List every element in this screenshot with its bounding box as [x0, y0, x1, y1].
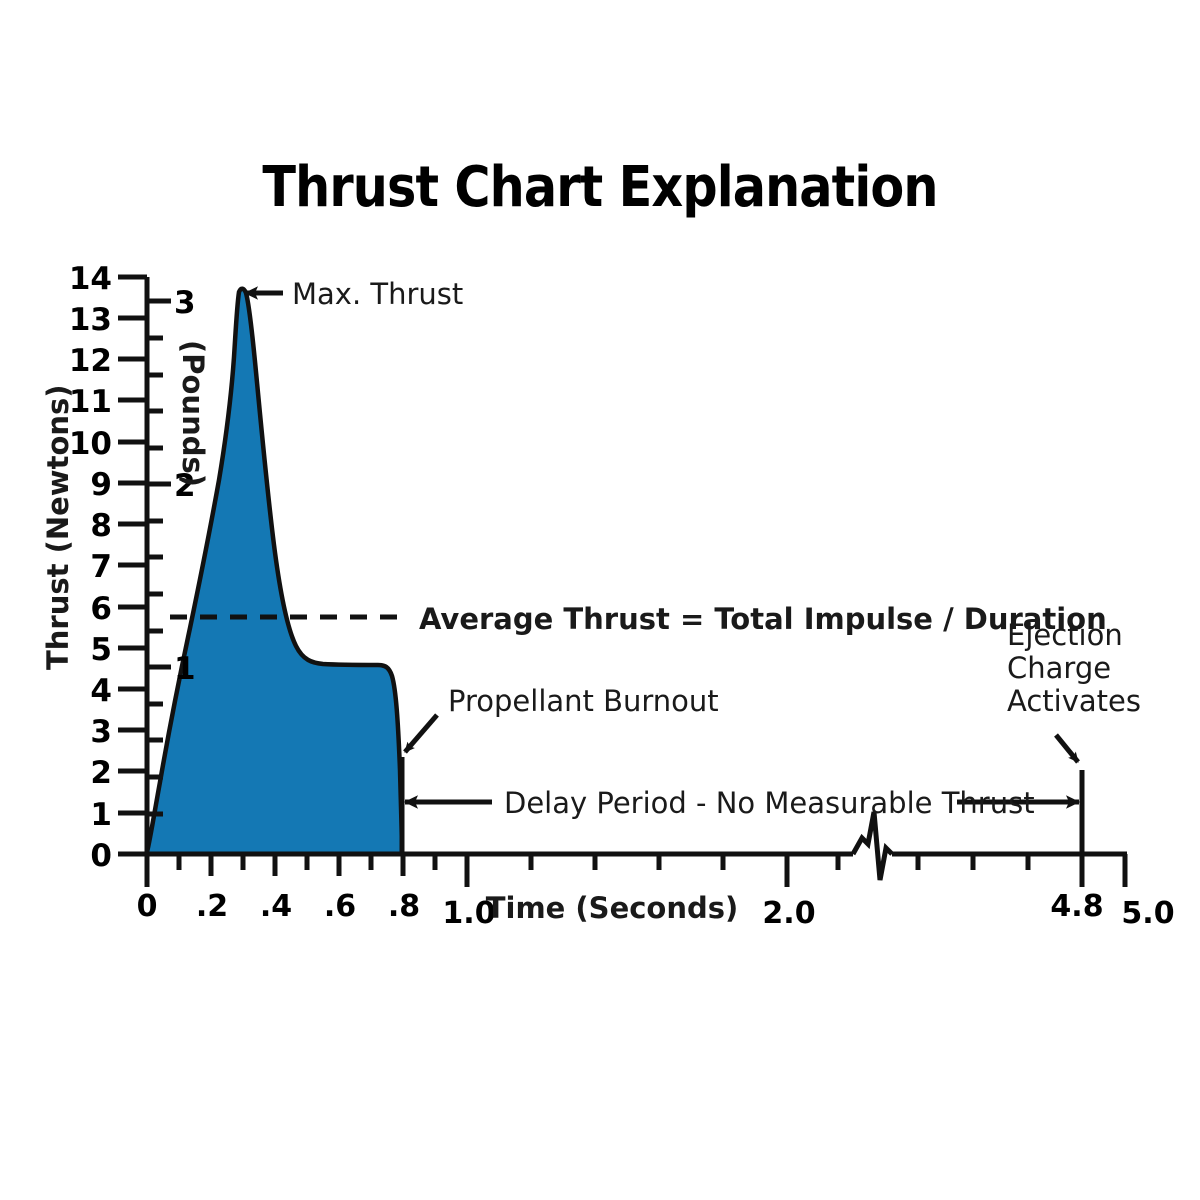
thrust-chart-figure: Thrust Chart Explanation: [0, 0, 1200, 1200]
x-axis-title: Time (Seconds): [486, 891, 739, 925]
propellant-burnout-label: Propellant Burnout: [448, 684, 719, 718]
x-label-2-0: 2.0: [762, 896, 815, 931]
y-label-lb-1: 1: [174, 651, 196, 687]
thrust-chart-plot: 14 13 12 11 10 9 8 7 6 5 4 3 2 1 0 3 2 1…: [0, 0, 1200, 1200]
propellant-burnout-annotation: Propellant Burnout: [402, 684, 719, 852]
y-label-2: 2: [90, 755, 112, 791]
y-label-13: 13: [69, 302, 112, 338]
y-axis-secondary-title: (Pounds): [176, 340, 210, 487]
max-thrust-label: Max. Thrust: [292, 277, 463, 311]
ejection-arrow: [1056, 735, 1078, 762]
y-label-9: 9: [90, 467, 112, 503]
y-label-5: 5: [90, 632, 112, 668]
y-label-7: 7: [90, 549, 112, 585]
ejection-label-line1: Ejection: [1007, 618, 1123, 652]
y-axis-tick-labels: 14 13 12 11 10 9 8 7 6 5 4 3 2 1 0: [69, 261, 112, 874]
x-label-4-8: 4.8: [1050, 889, 1103, 924]
y-label-6: 6: [90, 591, 112, 627]
burnout-arrow: [405, 715, 437, 752]
x-label-0-2: .2: [196, 889, 228, 924]
ejection-label-line3: Activates: [1007, 684, 1141, 718]
x-label-5-0: 5.0: [1121, 896, 1174, 931]
y-axis-title: Thrust (Newtons): [41, 384, 75, 670]
y-label-lb-3: 3: [174, 285, 196, 321]
y-label-3: 3: [90, 714, 112, 750]
y-label-11: 11: [69, 384, 112, 420]
x-label-0-6: .6: [324, 889, 356, 924]
x-label-0: 0: [137, 889, 158, 924]
y-label-10: 10: [69, 426, 112, 462]
y-label-4: 4: [90, 673, 112, 709]
y-label-12: 12: [69, 343, 112, 379]
delay-period-annotation: Delay Period - No Measurable Thrust: [405, 786, 1079, 820]
max-thrust-annotation: Max. Thrust: [245, 277, 463, 311]
x-label-0-8: .8: [388, 889, 420, 924]
average-thrust-label: Average Thrust = Total Impulse / Duratio…: [419, 602, 1107, 636]
y-label-8: 8: [90, 508, 112, 544]
y-label-14: 14: [69, 261, 112, 297]
delay-period-label: Delay Period - No Measurable Thrust: [504, 786, 1035, 820]
y-label-0: 0: [90, 838, 112, 874]
ejection-label-line2: Charge: [1007, 651, 1111, 685]
y-label-1: 1: [90, 797, 112, 833]
x-label-0-4: .4: [260, 889, 292, 924]
axis-break-icon: [853, 812, 892, 880]
